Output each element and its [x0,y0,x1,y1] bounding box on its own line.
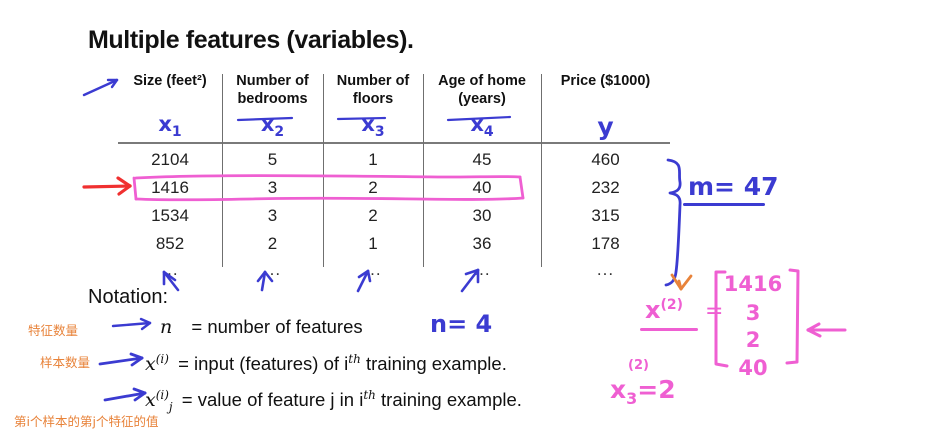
table-cell: 3 [222,206,323,226]
blue-arrow-notation-3 [105,389,145,400]
blue-arrow-notation-2 [100,354,142,365]
table-cell: 2 [323,206,423,226]
chinese-annotation-features-count: 特征数量 [28,320,78,339]
annotation-n-equals-4: n= 4 [430,310,492,338]
notation-text: = input (features) of i [178,353,348,374]
table-cell: ... [423,260,541,280]
table-cell: 3 [222,178,323,198]
annotation-x3-superscript: (2) [628,358,649,373]
x3-sub: 3 [626,389,637,408]
vector-value: 1416 [718,272,788,296]
table-cell: 315 [541,206,670,226]
table-column-floors: Number of floors x3 1 2 2 1 ... [323,72,423,275]
table-column-size: Size (feet²) x1 2104 1416 1534 852 ... [118,72,222,275]
pink-left-arrow [808,324,845,336]
table-cell: 1 [323,234,423,254]
column-header: Price ($1000) [541,72,670,90]
notation-line-xi: x(i) = input (features) of ith training … [145,352,507,375]
x-sup: (2) [660,297,683,313]
table-cell: 178 [541,234,670,254]
notation-line-xij: x(i)j = value of feature j in ith traini… [145,388,522,414]
annotation-x2-underline [640,328,698,331]
chinese-annotation-samples-count: 样本数量 [40,352,90,371]
table-cell: 460 [541,150,670,170]
pink-matrix-bracket-right [787,270,798,363]
table-cell: 36 [423,234,541,254]
chinese-annotation-feature-value: 第i个样本的第j个特征的值 [14,411,158,430]
slide-canvas: Multiple features (variables). Size (fee… [0,0,941,435]
table-cell: 2 [222,234,323,254]
features-table: Size (feet²) x1 2104 1416 1534 852 ... N… [118,72,670,275]
notation-text: = number of features [191,316,362,337]
table-cell: 1416 [118,178,222,198]
table-cell: 40 [423,178,541,198]
variable-label-x4: x4 [423,112,541,140]
notation-text-superscript: th [348,352,361,366]
notation-heading: Notation: [88,286,168,309]
column-header: Age of home (years) [423,72,541,108]
table-column-price: Price ($1000) y 460 232 315 178 ... [541,72,670,275]
symbol-n: n [160,316,172,338]
table-cell: 5 [222,150,323,170]
variable-label-y: y [541,112,670,141]
symbol-x: x [145,389,156,411]
table-column-bedrooms: Number of bedrooms x2 5 3 3 2 ... [222,72,323,275]
blue-arrow-to-size-header [84,80,117,95]
table-cell: 2104 [118,150,222,170]
orange-down-arrow [672,275,691,289]
annotation-m-equals-47: m= 47 [688,172,779,201]
table-cell: 1 [323,150,423,170]
notation-text: = value of feature j in i [182,389,364,410]
table-cell: ... [118,260,222,280]
table-cell: 2 [323,178,423,198]
table-cell: 852 [118,234,222,254]
annotation-x-superscript-2: x(2) [645,296,683,324]
notation-text-superscript: th [363,388,376,402]
column-header: Number of floors [323,72,423,108]
table-column-age: Age of home (years) x4 45 40 30 36 ... [423,72,541,275]
table-cell: 1534 [118,206,222,226]
vector-value: 2 [718,328,788,352]
variable-label-x2: x2 [222,112,323,140]
table-cell: 232 [541,178,670,198]
notation-line-n: n = number of features [160,316,363,338]
annotation-x3-equals-2: x3=2 [610,375,676,408]
notation-text-tail: training example. [376,389,522,410]
variable-label-x1: x1 [118,112,222,140]
symbol-x-superscript: (i) [156,388,169,402]
vector-value: 40 [718,356,788,380]
vector-value: 3 [718,301,788,325]
symbol-x-subscript: j [169,400,173,414]
column-header: Number of bedrooms [222,72,323,108]
table-cell: 45 [423,150,541,170]
column-header: Size (feet²) [118,72,222,90]
table-cell: ... [323,260,423,280]
variable-label-x3: x3 [323,112,423,140]
x-base: x [645,296,660,324]
page-title: Multiple features (variables). [88,26,414,55]
notation-text-tail: training example. [361,353,507,374]
blue-arrow-notation-1 [113,319,150,329]
symbol-x: x [145,353,156,375]
x3-tail: =2 [637,375,675,404]
table-cell: ... [222,260,323,280]
annotation-m-underline [683,203,765,206]
symbol-x-superscript: (i) [156,352,169,366]
table-cell: 30 [423,206,541,226]
table-cell: ... [541,260,670,280]
x3-base: x [610,375,626,404]
